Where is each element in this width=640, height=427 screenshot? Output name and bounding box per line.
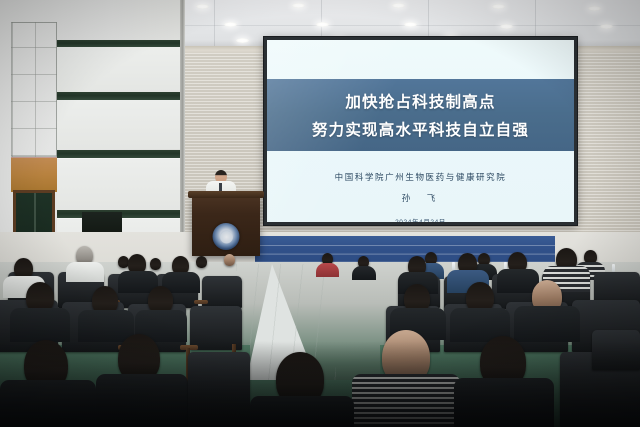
- recessed-ceiling-light: [588, 6, 601, 11]
- projection-screen: 加快抢占科技制高点 努力实现高水平科技自立自强 中国科学院广州生物医药与健康研究…: [264, 37, 577, 225]
- slide-title-band: 加快抢占科技制高点 努力实现高水平科技自立自强: [267, 79, 574, 151]
- auditorium-seat: [592, 330, 640, 370]
- audience-head: [150, 258, 161, 270]
- projected-slide: 加快抢占科技制高点 努力实现高水平科技自立自强 中国科学院广州生物医药与健康研究…: [267, 40, 574, 222]
- recessed-ceiling-light: [316, 22, 329, 27]
- slide-upper-blank: [267, 40, 574, 79]
- recessed-ceiling-light: [236, 38, 249, 43]
- recessed-ceiling-light: [500, 24, 513, 29]
- wall-marble-band: [57, 150, 181, 158]
- wall-wood-trim: [11, 157, 57, 192]
- water-bottle: [612, 264, 615, 272]
- audience-shoulders: [78, 310, 134, 342]
- audience-shoulders: [352, 266, 376, 280]
- left-wall-panel: [57, 46, 181, 93]
- conference-hall-photo: 加快抢占科技制高点 努力实现高水平科技自立自强 中国科学院广州生物医药与健康研究…: [0, 0, 640, 427]
- audience-head: [224, 254, 235, 266]
- audience-shoulders: [316, 263, 339, 277]
- seat-armrest: [194, 300, 208, 304]
- recessed-ceiling-light: [292, 3, 305, 8]
- audience-shoulders: [10, 308, 70, 342]
- audience-shoulders: [250, 396, 354, 427]
- wall-marble-band: [57, 92, 181, 100]
- recessed-ceiling-light: [196, 4, 209, 9]
- stage-riser-line: [255, 245, 555, 246]
- auditorium-seat: [202, 276, 242, 308]
- audience-shoulders: [96, 374, 188, 427]
- wall-grid-panel: [11, 22, 57, 157]
- left-wall-panel: [57, 99, 181, 149]
- audience-shoulders: [514, 306, 580, 342]
- audience-head: [196, 256, 207, 268]
- slide-title-line-2: 努力实现高水平科技自立自强: [312, 118, 529, 140]
- wall-marble-band: [57, 40, 181, 47]
- slide-footer-block: 中国科学院广州生物医药与健康研究院 孙 飞 2024年4月24日: [267, 151, 574, 222]
- speaker-podium: [192, 196, 260, 256]
- slide-title-line-1: 加快抢占科技制高点: [345, 90, 495, 112]
- left-wall-panel: [57, 158, 181, 210]
- institution-emblem: [213, 223, 240, 250]
- podium-top-surface: [188, 191, 264, 198]
- recessed-ceiling-light: [224, 22, 237, 27]
- water-bottle: [452, 262, 455, 270]
- recessed-ceiling-light: [600, 24, 613, 29]
- slide-date: 2024年4月24日: [395, 216, 446, 222]
- recessed-ceiling-light: [392, 3, 405, 8]
- slide-organization: 中国科学院广州生物医药与健康研究院: [335, 171, 507, 183]
- recessed-ceiling-light: [492, 4, 505, 9]
- slide-presenter-name: 孙 飞: [402, 192, 440, 204]
- auditorium-seat: [188, 352, 250, 427]
- audience-shoulders: [0, 380, 96, 427]
- audience-shoulders: [352, 374, 460, 427]
- audience-shoulders: [454, 378, 554, 427]
- recessed-ceiling-light: [404, 22, 417, 27]
- audience-shoulders: [66, 262, 104, 282]
